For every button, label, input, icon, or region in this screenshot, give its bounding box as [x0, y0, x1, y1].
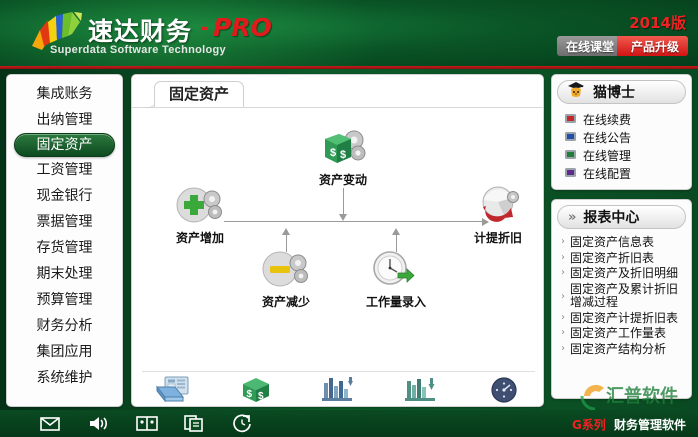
- flow-node-workload-entry[interactable]: 工作量录入: [350, 249, 442, 310]
- svg-text:$: $: [246, 389, 252, 400]
- bar-up-icon: [297, 375, 380, 407]
- sidebar-item-financial-analysis[interactable]: 财务分析: [14, 313, 115, 339]
- tool-increase-method[interactable]: 增加方式 Increase the ways: [297, 375, 380, 407]
- minus-gear-icon: [240, 249, 332, 291]
- tool-department-information[interactable]: 部门资料 Sector information: [132, 375, 215, 407]
- green-book-icon: [564, 146, 577, 165]
- svg-text:$: $: [340, 149, 346, 161]
- purple-book-icon: [564, 164, 577, 183]
- doctor-title: 猫博士: [593, 82, 635, 102]
- sidebar-item-period-end[interactable]: 期末处理: [14, 261, 115, 287]
- online-link-label: 在线配置: [583, 165, 631, 182]
- online-services-box: 猫博士 在线续费 在线公告: [551, 74, 692, 190]
- department-file-icon: [132, 375, 215, 407]
- money-cube-icon: $ $: [215, 375, 298, 407]
- sidebar-item-budget[interactable]: 预算管理: [14, 287, 115, 313]
- clock-arrow-icon: [350, 249, 442, 291]
- main-panel: 固定资产 $: [131, 74, 544, 407]
- mail-icon[interactable]: [40, 414, 60, 433]
- chevron-right-icon: ›: [558, 327, 568, 338]
- sidebar-item-inventory[interactable]: 存货管理: [14, 235, 115, 261]
- module-sidebar: 集成账务 出纳管理 固定资产 工资管理 现金银行 票据管理 存货管理 期末处理 …: [6, 74, 123, 407]
- header-button-group: 在线课堂 产品升级: [557, 36, 688, 56]
- flow-node-label: 计提折旧: [452, 229, 544, 246]
- sidebar-item-integrated-accounting[interactable]: 集成账务: [14, 81, 115, 107]
- documents-icon[interactable]: [184, 414, 204, 433]
- book-icon[interactable]: [136, 414, 156, 433]
- flow-node-depreciation[interactable]: 计提折旧: [452, 185, 544, 246]
- tab-strip: 固定资产: [132, 75, 544, 108]
- tab-baseline: [132, 107, 544, 108]
- report-item-label: 固定资产计提折旧表: [570, 312, 678, 326]
- money-cube-gear-icon: $ $: [297, 127, 389, 169]
- flow-node-asset-increase[interactable]: 资产增加: [154, 185, 246, 246]
- brand-name-cn: 速达财务: [88, 12, 192, 48]
- flow-line-decrease-up: [286, 234, 287, 252]
- red-book-icon: [564, 110, 577, 129]
- product-upgrade-button[interactable]: 产品升级: [617, 36, 688, 56]
- report-item-asset-depreciation-detail[interactable]: › 固定资产及折旧明细: [552, 266, 691, 282]
- online-link-label: 在线续费: [583, 111, 631, 128]
- online-link-renew[interactable]: 在线续费: [552, 110, 691, 128]
- report-center-title: 报表中心: [583, 207, 639, 227]
- flow-node-label: 资产减少: [240, 293, 332, 310]
- application-window: 速达财务 - PRO Superdata Software Technology…: [0, 0, 698, 437]
- report-item-label: 固定资产工作量表: [570, 327, 666, 341]
- svg-text:$: $: [258, 391, 264, 402]
- report-item-depreciation[interactable]: › 固定资产折旧表: [552, 251, 691, 267]
- chevron-right-icon: ›: [558, 312, 568, 323]
- flow-node-label: 工作量录入: [350, 293, 442, 310]
- footer-product-label: 财务管理软件: [614, 418, 686, 432]
- report-item-asset-info[interactable]: › 固定资产信息表: [552, 235, 691, 251]
- sidebar-item-fixed-assets[interactable]: 固定资产: [14, 133, 115, 157]
- flow-node-label: 资产变动: [297, 171, 389, 188]
- fixed-asset-flow-diagram: $ $ 资产变动: [132, 109, 544, 367]
- flow-node-asset-decrease[interactable]: 资产减少: [240, 249, 332, 310]
- sphere-redarrow-icon: [452, 185, 544, 227]
- sidebar-item-cashier[interactable]: 出纳管理: [14, 107, 115, 133]
- sidebar-item-group-application[interactable]: 集团应用: [14, 339, 115, 365]
- report-item-label: 固定资产及折旧明细: [570, 267, 678, 281]
- right-sidebar: 猫博士 在线续费 在线公告: [551, 74, 692, 407]
- report-center-header[interactable]: » 报表中心: [557, 205, 686, 229]
- online-link-label: 在线管理: [583, 147, 631, 164]
- brand-tagline-en: Superdata Software Technology: [50, 44, 226, 56]
- chevron-right-icon: ›: [558, 252, 568, 263]
- footer-series-label: G系列: [572, 418, 606, 432]
- online-link-configuration[interactable]: 在线配置: [552, 164, 691, 182]
- report-item-provision-depreciation[interactable]: › 固定资产计提折旧表: [552, 311, 691, 327]
- chevron-right-icon: ›: [558, 343, 568, 354]
- chevron-right-icon: ›: [558, 236, 568, 247]
- tab-fixed-assets[interactable]: 固定资产: [154, 81, 244, 107]
- sidebar-item-system-maintenance[interactable]: 系统维护: [14, 365, 115, 391]
- chevron-right-icon: ›: [558, 283, 568, 310]
- report-center-box: » 报表中心 › 固定资产信息表 › 固定资产折旧表 › 固定资产及折旧明细 ›: [551, 199, 692, 399]
- chevron-right-icon: ›: [558, 267, 568, 278]
- report-item-label: 固定资产结构分析: [570, 343, 666, 357]
- flow-line-workload-up: [396, 234, 397, 252]
- speaker-icon[interactable]: [88, 414, 108, 433]
- online-link-announcement[interactable]: 在线公告: [552, 128, 691, 146]
- flow-node-label: 资产增加: [154, 229, 246, 246]
- report-item-label: 固定资产及累计折旧增减过程: [570, 283, 685, 310]
- flow-arrow-workload-up: [392, 228, 400, 235]
- fixed-asset-toolbar: 部门资料 Sector information $ $ 资产类别 Asset c…: [132, 375, 544, 407]
- flow-line-change-down: [343, 188, 344, 216]
- tool-asset-classes[interactable]: $ $ 资产类别 Asset classes: [215, 375, 298, 407]
- flow-line-bus: [224, 221, 484, 222]
- report-item-label: 固定资产折旧表: [570, 252, 654, 266]
- version-year-badge: 2014版: [629, 12, 686, 33]
- brand-name-pro: PRO: [213, 13, 272, 42]
- svg-text:$: $: [330, 147, 336, 159]
- header-separator: [0, 66, 698, 69]
- refresh-clock-icon[interactable]: [232, 414, 252, 433]
- status-bar: G系列 财务管理软件: [0, 410, 698, 437]
- sidebar-item-bills[interactable]: 票据管理: [14, 209, 115, 235]
- blue-book-icon: [564, 128, 577, 147]
- flow-node-asset-change[interactable]: $ $ 资产变动: [297, 127, 389, 188]
- app-header: 速达财务 - PRO Superdata Software Technology…: [0, 0, 698, 66]
- sidebar-item-cash-bank[interactable]: 现金银行: [14, 183, 115, 209]
- report-item-structure-analysis[interactable]: › 固定资产结构分析: [552, 342, 691, 358]
- report-item-label: 固定资产信息表: [570, 236, 654, 250]
- online-class-button[interactable]: 在线课堂: [557, 36, 623, 56]
- footer-brand: G系列 财务管理软件: [572, 416, 686, 433]
- flow-arrow-change-down: [339, 214, 347, 221]
- gauge-icon: [462, 375, 544, 407]
- tool-decrease-method[interactable]: 减少方式 Reduce the way: [380, 375, 463, 407]
- bar-down-icon: [380, 375, 463, 407]
- report-item-accumulated-change[interactable]: › 固定资产及累计折旧增减过程: [552, 282, 691, 311]
- online-link-management[interactable]: 在线管理: [552, 146, 691, 164]
- tool-usage-status[interactable]: 使用情况 The use of: [462, 375, 544, 407]
- cat-doctor-icon: [566, 81, 586, 103]
- online-link-label: 在线公告: [583, 129, 631, 146]
- flow-arrow-decrease-up: [282, 228, 290, 235]
- chevron-double-right-icon: »: [568, 210, 576, 225]
- sidebar-item-payroll[interactable]: 工资管理: [14, 157, 115, 183]
- toolbar-separator: [142, 371, 535, 372]
- doctor-header[interactable]: 猫博士: [557, 80, 686, 104]
- brand-dash: -: [200, 16, 209, 41]
- report-item-workload[interactable]: › 固定资产工作量表: [552, 326, 691, 342]
